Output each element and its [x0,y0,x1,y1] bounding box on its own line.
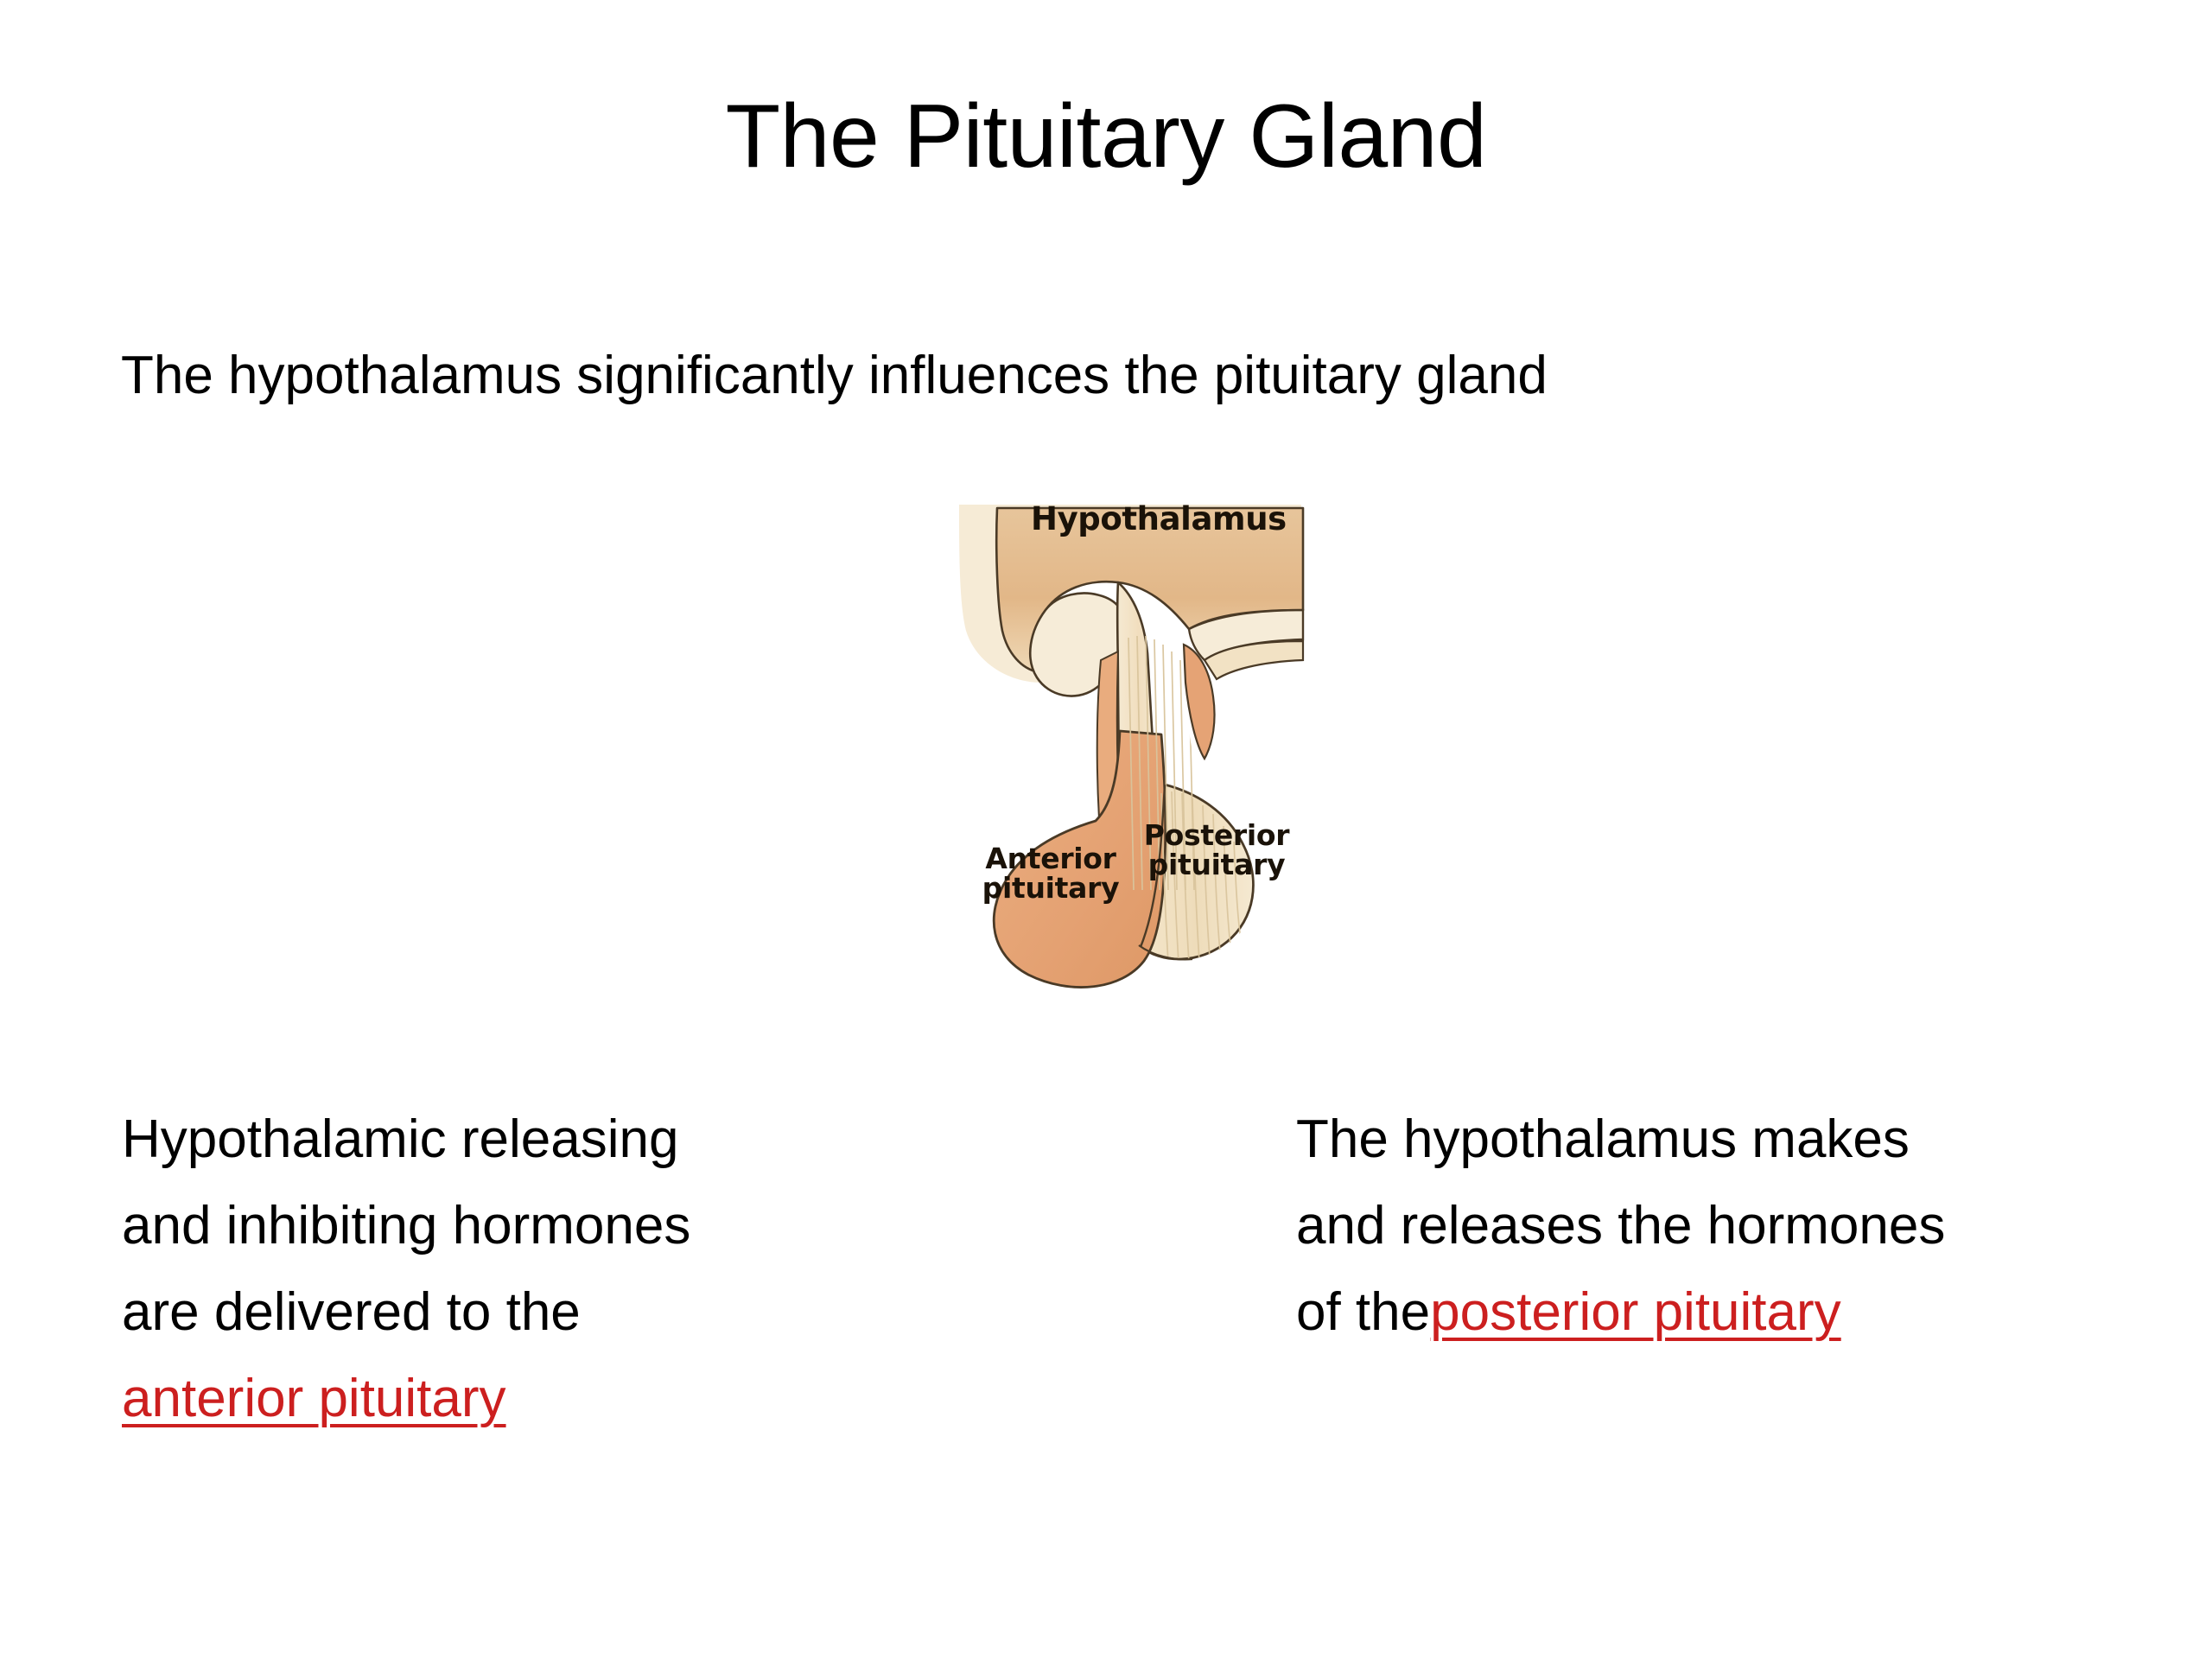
figure-label-posterior-pituitary: Posterior pituitary [1126,821,1307,879]
right-column-line-3: of the posterior pituitary [1296,1286,2186,1372]
pituitary-anatomy-figure: Hypothalamus Anterior pituitary Posterio… [957,499,1329,1002]
figure-label-anterior-pituitary: Anterior pituitary [964,844,1137,902]
figure-label-anterior-line1: Anterior [964,844,1137,874]
right-column-line-2: and releases the hormones [1296,1199,2186,1286]
lead-sentence: The hypothalamus significantly influence… [121,344,1548,407]
left-column-line-4: anterior pituitary [122,1372,1038,1459]
page-title: The Pituitary Gland [0,90,2212,184]
anterior-pituitary-highlight: anterior pituitary [122,1372,506,1426]
right-column-line-3-prefix: of the [1296,1286,1430,1339]
right-column-line-1: The hypothalamus makes [1296,1113,2186,1199]
figure-label-posterior-line2: pituitary [1126,850,1307,880]
posterior-pituitary-highlight: posterior pituitary [1430,1286,1841,1339]
pituitary-anatomy-illustration [957,499,1329,1002]
right-text-column: The hypothalamus makes and releases the … [1296,1113,2186,1372]
figure-label-anterior-line2: pituitary [964,874,1137,903]
left-text-column: Hypothalamic releasing and inhibiting ho… [122,1113,1038,1459]
figure-label-posterior-line1: Posterior [1126,821,1307,850]
left-column-line-3: are delivered to the [122,1286,1038,1372]
left-column-line-2: and inhibiting hormones [122,1199,1038,1286]
left-column-line-1: Hypothalamic releasing [122,1113,1038,1199]
figure-label-hypothalamus: Hypothalamus [1031,503,1287,536]
